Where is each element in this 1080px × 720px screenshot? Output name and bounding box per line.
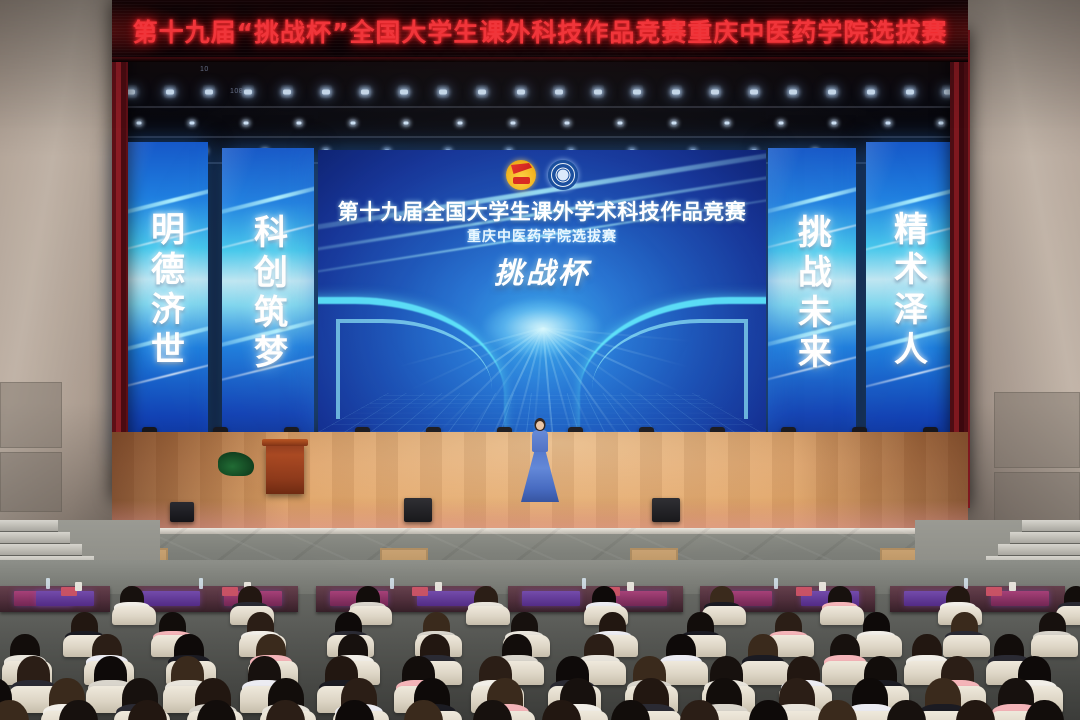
stage-light-fixture bbox=[437, 85, 449, 98]
panel-text-ke-chuang-zhu-meng: 科创筑梦 bbox=[244, 214, 293, 374]
stage-light-fixture bbox=[403, 119, 410, 127]
document-folder bbox=[796, 587, 812, 596]
judge-desk bbox=[0, 586, 110, 612]
stage-event-photo: 10 10 326 108 明德济世 科创筑梦 挑战未来 精术泽人 bbox=[0, 0, 1080, 720]
stage-light-fixture bbox=[777, 119, 784, 127]
stage-monitor-speaker bbox=[652, 498, 680, 522]
performer-gown bbox=[521, 450, 559, 502]
staircase-step bbox=[0, 544, 82, 555]
stage-light-fixture bbox=[189, 119, 196, 127]
staircase-step bbox=[998, 544, 1080, 555]
panel-text-jing-shu-ze-ren: 精术泽人 bbox=[884, 211, 933, 371]
stage-light-fixture bbox=[938, 119, 945, 127]
judge-monitor bbox=[142, 591, 200, 606]
stage-plants bbox=[218, 452, 254, 476]
screen-title: 第十九届全国大学生课外学术科技作品竞赛 bbox=[318, 196, 766, 226]
communist-youth-league-emblem-icon bbox=[506, 160, 536, 190]
stage-light-fixture bbox=[865, 85, 877, 98]
stage-light-fixture bbox=[787, 85, 799, 98]
stage-light-fixture bbox=[320, 85, 332, 98]
stage-light-fixture bbox=[281, 85, 293, 98]
truss-marking: 108 bbox=[230, 88, 243, 95]
water-bottle bbox=[774, 578, 778, 589]
audience-seat bbox=[1031, 635, 1078, 657]
stage-light-fixture bbox=[724, 119, 731, 127]
stage-light-fixture bbox=[709, 85, 721, 98]
stage-light-fixture bbox=[398, 85, 410, 98]
stage-light-fixture bbox=[296, 119, 303, 127]
truss-light-row-middle bbox=[112, 116, 968, 130]
stage-light-fixture bbox=[904, 85, 916, 98]
wall-panel-right-upper bbox=[994, 392, 1080, 468]
truss-beam bbox=[112, 136, 968, 138]
stage-light-fixture bbox=[826, 85, 838, 98]
stage-light-fixture bbox=[563, 119, 570, 127]
staircase-step bbox=[1022, 520, 1080, 531]
screen-subtitle: 重庆中医药学院选拔赛 bbox=[318, 226, 766, 246]
speaker-podium bbox=[266, 444, 304, 494]
banner-bottom-edge bbox=[112, 57, 968, 62]
led-banner-text: 第十九届“挑战杯”全国大学生课外科技作品竞赛重庆中医药学院选拔赛 bbox=[133, 13, 948, 49]
panel-text-tiao-zhan-wei-lai: 挑战未来 bbox=[788, 214, 837, 374]
panel-text-ming-de-ji-shi: 明德济世 bbox=[141, 211, 190, 371]
auditorium-wall-right bbox=[960, 0, 1080, 560]
stage-light-fixture bbox=[670, 119, 677, 127]
document-folder bbox=[412, 587, 428, 596]
podium-top bbox=[262, 439, 308, 446]
stage-light-fixture bbox=[349, 119, 356, 127]
judge-monitor bbox=[522, 591, 580, 606]
paper-cup bbox=[627, 582, 634, 591]
stage-light-fixture bbox=[553, 85, 565, 98]
document-folder bbox=[986, 587, 1002, 596]
stage-light-fixture bbox=[242, 85, 254, 98]
stage-light-fixture bbox=[592, 85, 604, 98]
vanishing-point-glow bbox=[482, 298, 602, 358]
performer-torso bbox=[532, 430, 548, 452]
wall-panel-left-upper bbox=[0, 382, 62, 448]
stage-light-fixture bbox=[515, 85, 527, 98]
truss-marking: 10 bbox=[200, 66, 209, 73]
led-panel-3: 挑战未来 bbox=[768, 148, 856, 450]
audience-seat bbox=[112, 606, 156, 625]
water-bottle bbox=[199, 578, 203, 589]
wall-panel-left-lower bbox=[0, 452, 62, 512]
stage-light-fixture bbox=[203, 85, 215, 98]
water-bottle bbox=[390, 578, 394, 589]
performer-face bbox=[536, 421, 544, 430]
stage-light-fixture bbox=[242, 119, 249, 127]
water-bottle bbox=[582, 578, 586, 589]
stage-light-fixture bbox=[631, 85, 643, 98]
led-banner: 第十九届“挑战杯”全国大学生课外科技作品竞赛重庆中医药学院选拔赛 bbox=[112, 0, 968, 62]
stage-light-fixture bbox=[617, 119, 624, 127]
main-led-screen: 第十九届全国大学生课外学术科技作品竞赛 重庆中医药学院选拔赛 挑战杯 bbox=[318, 150, 766, 432]
staircase-step bbox=[0, 520, 58, 531]
audience-seating-area bbox=[0, 560, 1080, 720]
paper-cup bbox=[819, 582, 826, 591]
audience-seat bbox=[820, 606, 864, 625]
stage-monitor-speaker bbox=[170, 502, 194, 522]
paper-cup bbox=[75, 582, 82, 591]
paper-cup bbox=[1009, 582, 1016, 591]
emblem-group bbox=[506, 160, 578, 190]
document-folder bbox=[222, 587, 238, 596]
host-performer bbox=[520, 418, 560, 502]
audience-seat bbox=[855, 635, 902, 657]
screen-logo-text: 挑战杯 bbox=[318, 250, 766, 292]
stage-light-fixture bbox=[164, 85, 176, 98]
water-bottle bbox=[46, 578, 50, 589]
paper-cup bbox=[435, 582, 442, 591]
stage-light-fixture bbox=[831, 119, 838, 127]
stage-light-fixture bbox=[510, 119, 517, 127]
stage-light-fixture bbox=[748, 85, 760, 98]
staircase-step bbox=[1010, 532, 1080, 543]
university-seal-emblem-icon bbox=[548, 160, 578, 190]
stage-light-fixture bbox=[670, 85, 682, 98]
audience-seat bbox=[466, 606, 510, 625]
stage-light-fixture bbox=[359, 85, 371, 98]
stage-light-fixture bbox=[456, 119, 463, 127]
stage-light-fixture bbox=[135, 119, 142, 127]
audience-seat bbox=[943, 635, 990, 657]
staircase-step bbox=[0, 532, 70, 543]
truss-beam bbox=[112, 106, 968, 108]
stage-light-fixture bbox=[476, 85, 488, 98]
stage-light-fixture bbox=[884, 119, 891, 127]
led-panel-2: 科创筑梦 bbox=[222, 148, 314, 450]
led-panel-4: 精术泽人 bbox=[866, 142, 950, 454]
audience-seat bbox=[740, 661, 790, 685]
stage-monitor-speaker bbox=[404, 498, 432, 522]
led-panel-1: 明德济世 bbox=[122, 142, 208, 454]
judge-desk bbox=[316, 586, 491, 612]
